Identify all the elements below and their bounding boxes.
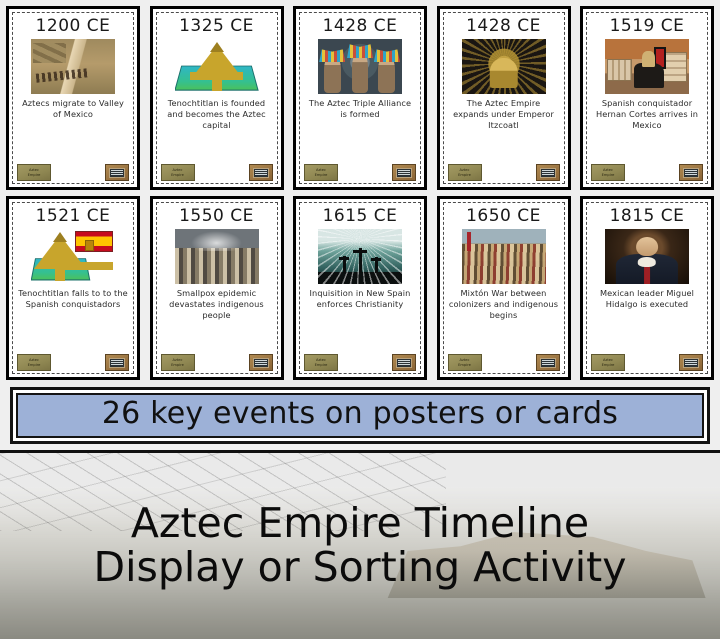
topic-badge-line2: Empire xyxy=(458,173,471,177)
topic-badge-line2: Empire xyxy=(28,173,41,177)
topic-badge: Aztec Empire xyxy=(591,164,625,181)
card-footer: Aztec Empire xyxy=(161,161,273,181)
product-title: Aztec Empire Timeline xyxy=(131,503,589,545)
timeline-card[interactable]: 1650 CE Mixtón War between colonizers an… xyxy=(437,196,571,380)
card-inner: 1650 CE Mixtón War between colonizers an… xyxy=(443,202,565,374)
card-description: Mixtón War between colonizers and indige… xyxy=(448,288,560,351)
timeline-card[interactable]: 1519 CE Spanish conquistador Hernan Cort… xyxy=(580,6,714,190)
three-crosses-photo xyxy=(318,229,402,284)
card-year: 1428 CE xyxy=(466,18,541,36)
tenochtitlan-temple-illustration xyxy=(175,39,259,94)
card-year: 1325 CE xyxy=(179,18,254,36)
topic-badge: Aztec Empire xyxy=(304,164,338,181)
card-description: Inquisition in New Spain enforces Christ… xyxy=(304,288,416,351)
card-description: Smallpox epidemic devastates indigenous … xyxy=(161,288,273,351)
card-description: Tenochtitlan is founded and becomes the … xyxy=(161,98,273,161)
card-description: Spanish conquistador Hernan Cortes arriv… xyxy=(591,98,703,161)
product-subtitle: Display or Sorting Activity xyxy=(94,547,627,589)
card-description: The Aztec Empire expands under Emperor I… xyxy=(448,98,560,161)
card-footer: Aztec Empire xyxy=(591,351,703,371)
chalkboard-logo-icon xyxy=(679,164,703,181)
card-year: 1815 CE xyxy=(610,208,685,226)
card-description: Tenochtitlan falls to to the Spanish con… xyxy=(17,288,129,351)
topic-badge-line2: Empire xyxy=(315,363,328,367)
hernan-cortes-on-horseback-photo xyxy=(605,39,689,94)
timeline-card-grid: 1200 CE Aztecs migrate to Valley of Mexi… xyxy=(0,0,720,380)
topic-badge-line2: Empire xyxy=(458,363,471,367)
card-description: Mexican leader Miguel Hidalgo is execute… xyxy=(591,288,703,351)
card-inner: 1519 CE Spanish conquistador Hernan Cort… xyxy=(586,12,708,184)
card-year: 1521 CE xyxy=(36,208,111,226)
card-footer: Aztec Empire xyxy=(304,351,416,371)
miguel-hidalgo-portrait-photo xyxy=(605,229,689,284)
topic-badge-line2: Empire xyxy=(315,173,328,177)
topic-badge: Aztec Empire xyxy=(448,354,482,371)
chalkboard-logo-icon xyxy=(392,354,416,371)
chalkboard-logo-icon xyxy=(249,164,273,181)
card-year: 1200 CE xyxy=(36,18,111,36)
card-footer: Aztec Empire xyxy=(448,161,560,181)
timeline-card[interactable]: 1550 CE Smallpox epidemic devastates ind… xyxy=(150,196,284,380)
topic-badge: Aztec Empire xyxy=(17,354,51,371)
triple-alliance-warriors-photo xyxy=(318,39,402,94)
emperor-itzcoatl-bust-photo xyxy=(462,39,546,94)
timeline-card[interactable]: 1815 CE Mexican leader Miguel Hidalgo is… xyxy=(580,196,714,380)
card-footer: Aztec Empire xyxy=(448,351,560,371)
card-footer: Aztec Empire xyxy=(304,161,416,181)
card-row-2: 1521 CE Tenochtitlan falls to to the Spa… xyxy=(6,196,714,380)
timeline-card[interactable]: 1200 CE Aztecs migrate to Valley of Mexi… xyxy=(6,6,140,190)
title-block: Aztec Empire Timeline Display or Sorting… xyxy=(0,450,720,639)
timeline-card[interactable]: 1428 CE The Aztec Triple Alliance is for… xyxy=(293,6,427,190)
card-inner: 1428 CE The Aztec Empire expands under E… xyxy=(443,12,565,184)
card-footer: Aztec Empire xyxy=(17,351,129,371)
feature-banner-frame: 26 key events on posters or cards xyxy=(10,387,710,444)
card-inner: 1428 CE The Aztec Triple Alliance is for… xyxy=(299,12,421,184)
topic-badge-line2: Empire xyxy=(171,173,184,177)
product-cover-page: 1200 CE Aztecs migrate to Valley of Mexi… xyxy=(0,0,720,639)
topic-badge-line2: Empire xyxy=(602,363,615,367)
feature-banner-text: 26 key events on posters or cards xyxy=(22,398,698,430)
topic-badge: Aztec Empire xyxy=(304,354,338,371)
chalkboard-logo-icon xyxy=(536,164,560,181)
chalkboard-logo-icon xyxy=(105,354,129,371)
topic-badge-line2: Empire xyxy=(28,363,41,367)
timeline-card[interactable]: 1615 CE Inquisition in New Spain enfo xyxy=(293,196,427,380)
smallpox-crowd-photo xyxy=(175,229,259,284)
card-inner: 1550 CE Smallpox epidemic devastates ind… xyxy=(156,202,278,374)
card-footer: Aztec Empire xyxy=(161,351,273,371)
mixton-war-battle-photo xyxy=(462,229,546,284)
aztec-migration-photo xyxy=(31,39,115,94)
card-inner: 1815 CE Mexican leader Miguel Hidalgo is… xyxy=(586,202,708,374)
card-year: 1428 CE xyxy=(323,18,398,36)
topic-badge-line2: Empire xyxy=(171,363,184,367)
topic-badge: Aztec Empire xyxy=(448,164,482,181)
timeline-card[interactable]: 1521 CE Tenochtitlan falls to to the Spa… xyxy=(6,196,140,380)
card-footer: Aztec Empire xyxy=(17,161,129,181)
timeline-card[interactable]: 1325 CE Tenochtitlan is founded and beco… xyxy=(150,6,284,190)
card-inner: 1521 CE Tenochtitlan falls to to the Spa… xyxy=(12,202,134,374)
timeline-card[interactable]: 1428 CE The Aztec Empire expands under E… xyxy=(437,6,571,190)
card-year: 1650 CE xyxy=(466,208,541,226)
card-year: 1519 CE xyxy=(610,18,685,36)
chalkboard-logo-icon xyxy=(536,354,560,371)
chalkboard-logo-icon xyxy=(105,164,129,181)
chalkboard-logo-icon xyxy=(392,164,416,181)
card-inner: 1615 CE Inquisition in New Spain enfo xyxy=(299,202,421,374)
card-footer: Aztec Empire xyxy=(591,161,703,181)
card-inner: 1325 CE Tenochtitlan is founded and beco… xyxy=(156,12,278,184)
tenochtitlan-falls-spanish-flag-illustration xyxy=(31,229,115,284)
topic-badge: Aztec Empire xyxy=(17,164,51,181)
card-year: 1615 CE xyxy=(323,208,398,226)
chalkboard-logo-icon xyxy=(679,354,703,371)
card-description: Aztecs migrate to Valley of Mexico xyxy=(17,98,129,161)
topic-badge: Aztec Empire xyxy=(161,164,195,181)
card-description: The Aztec Triple Alliance is formed xyxy=(304,98,416,161)
topic-badge: Aztec Empire xyxy=(591,354,625,371)
chalkboard-logo-icon xyxy=(249,354,273,371)
topic-badge: Aztec Empire xyxy=(161,354,195,371)
card-year: 1550 CE xyxy=(179,208,254,226)
card-inner: 1200 CE Aztecs migrate to Valley of Mexi… xyxy=(12,12,134,184)
topic-badge-line2: Empire xyxy=(602,173,615,177)
feature-banner: 26 key events on posters or cards xyxy=(16,393,704,438)
card-row-1: 1200 CE Aztecs migrate to Valley of Mexi… xyxy=(6,6,714,190)
